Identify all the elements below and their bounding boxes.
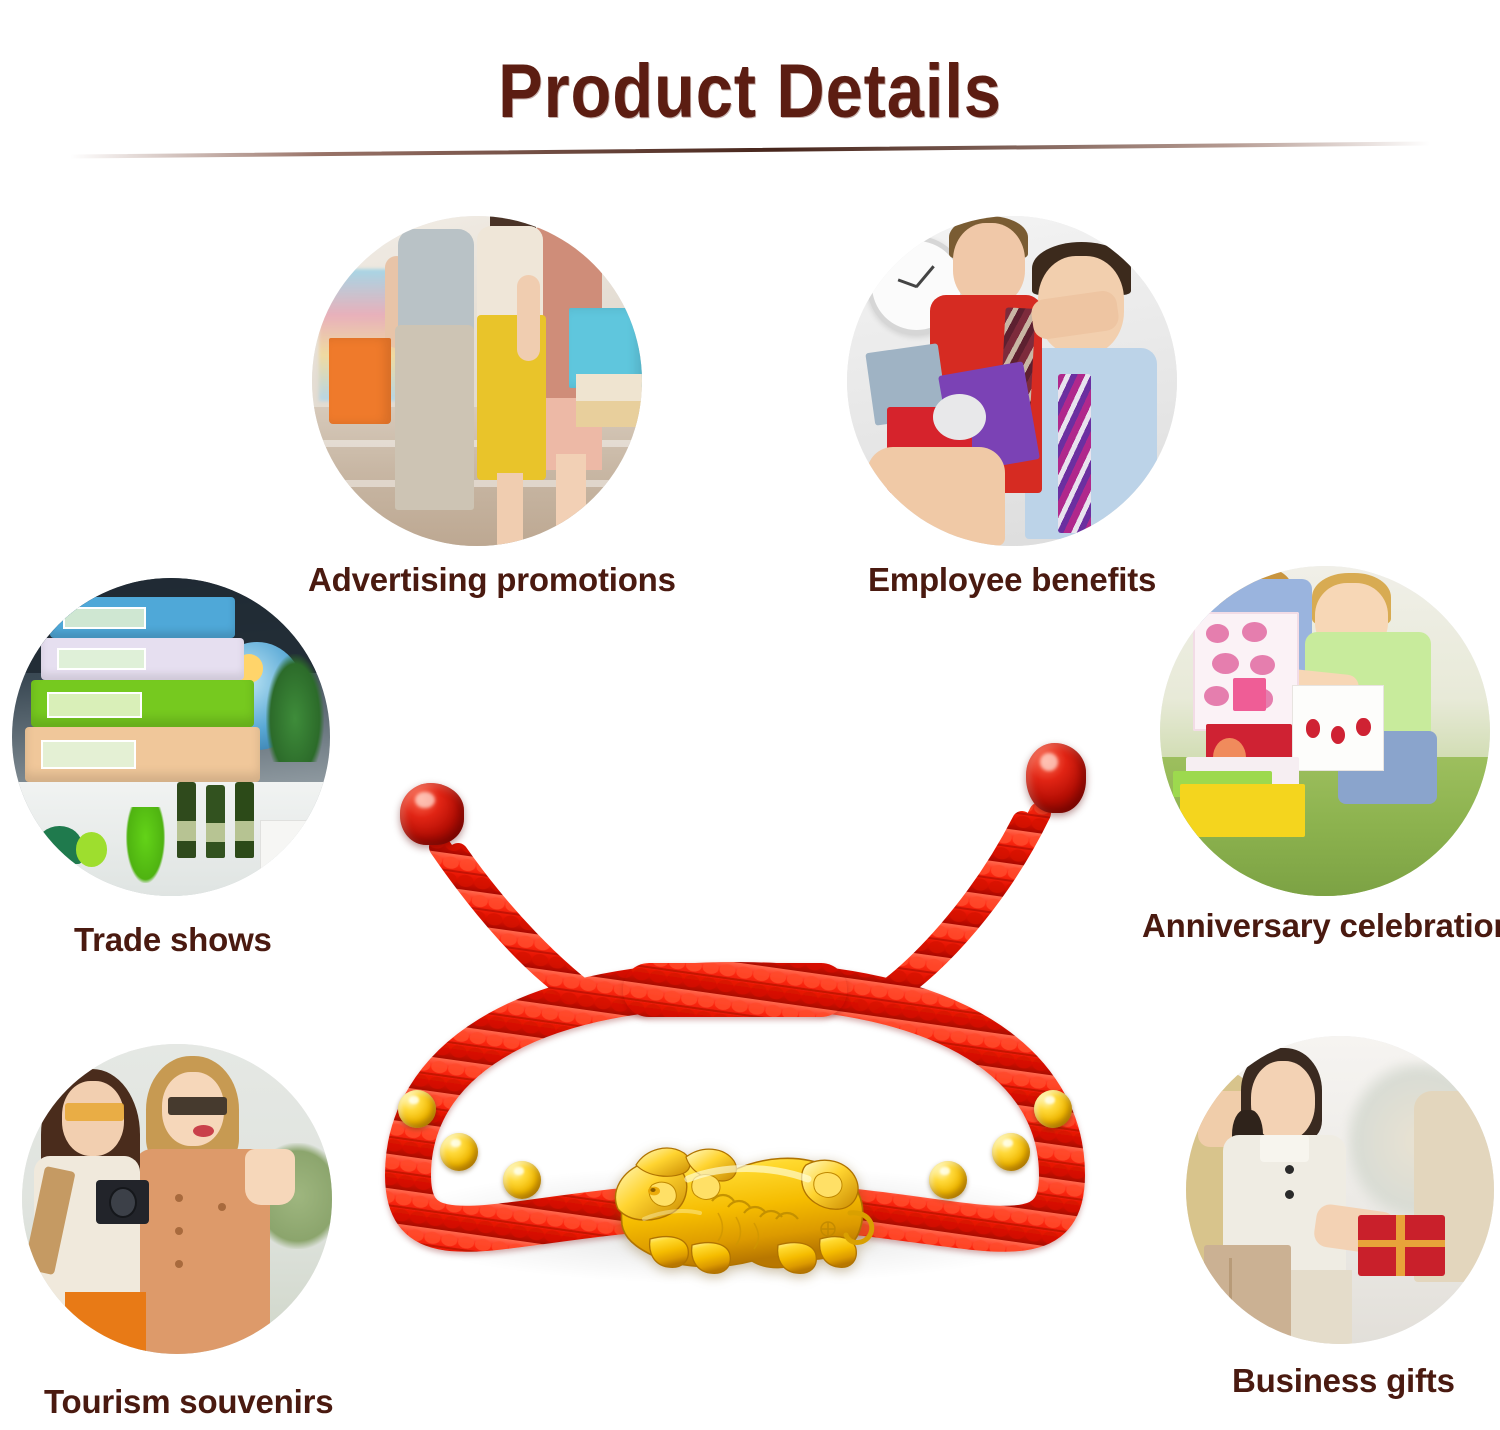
gold-pixiu-charm [592,1113,882,1298]
photo-advertising-promotions [312,216,642,546]
end-cap-bead-right [1026,743,1086,813]
gold-bead [992,1133,1030,1171]
caption-anniversary-celebrations: Anniversary celebrations [1142,907,1500,945]
photo-trade-shows [12,578,330,896]
caption-trade-shows: Trade shows [74,921,272,959]
product-bracelet [340,735,1130,1315]
caption-advertising-promotions: Advertising promotions [308,561,676,599]
photo-business-gifts [1186,1036,1494,1344]
gold-bead [440,1133,478,1171]
gold-bead [503,1161,541,1199]
adjustable-slider-knot [623,963,847,1017]
caption-tourism-souvenirs: Tourism souvenirs [44,1383,333,1421]
end-cap-bead-left [400,783,464,845]
page-header: Product Details [0,0,1500,180]
gold-bead [398,1090,436,1128]
caption-business-gifts: Business gifts [1232,1362,1455,1400]
title-divider [70,141,1430,158]
product-details-page: Product Details Advertising pr [0,0,1500,1430]
photo-tourism-souvenirs [22,1044,332,1354]
photo-anniversary-celebrations [1160,566,1490,896]
caption-employee-benefits: Employee benefits [868,561,1156,599]
photo-employee-benefits [847,216,1177,546]
page-title: Product Details [90,48,1410,135]
gold-bead [929,1161,967,1199]
gold-bead [1034,1090,1072,1128]
